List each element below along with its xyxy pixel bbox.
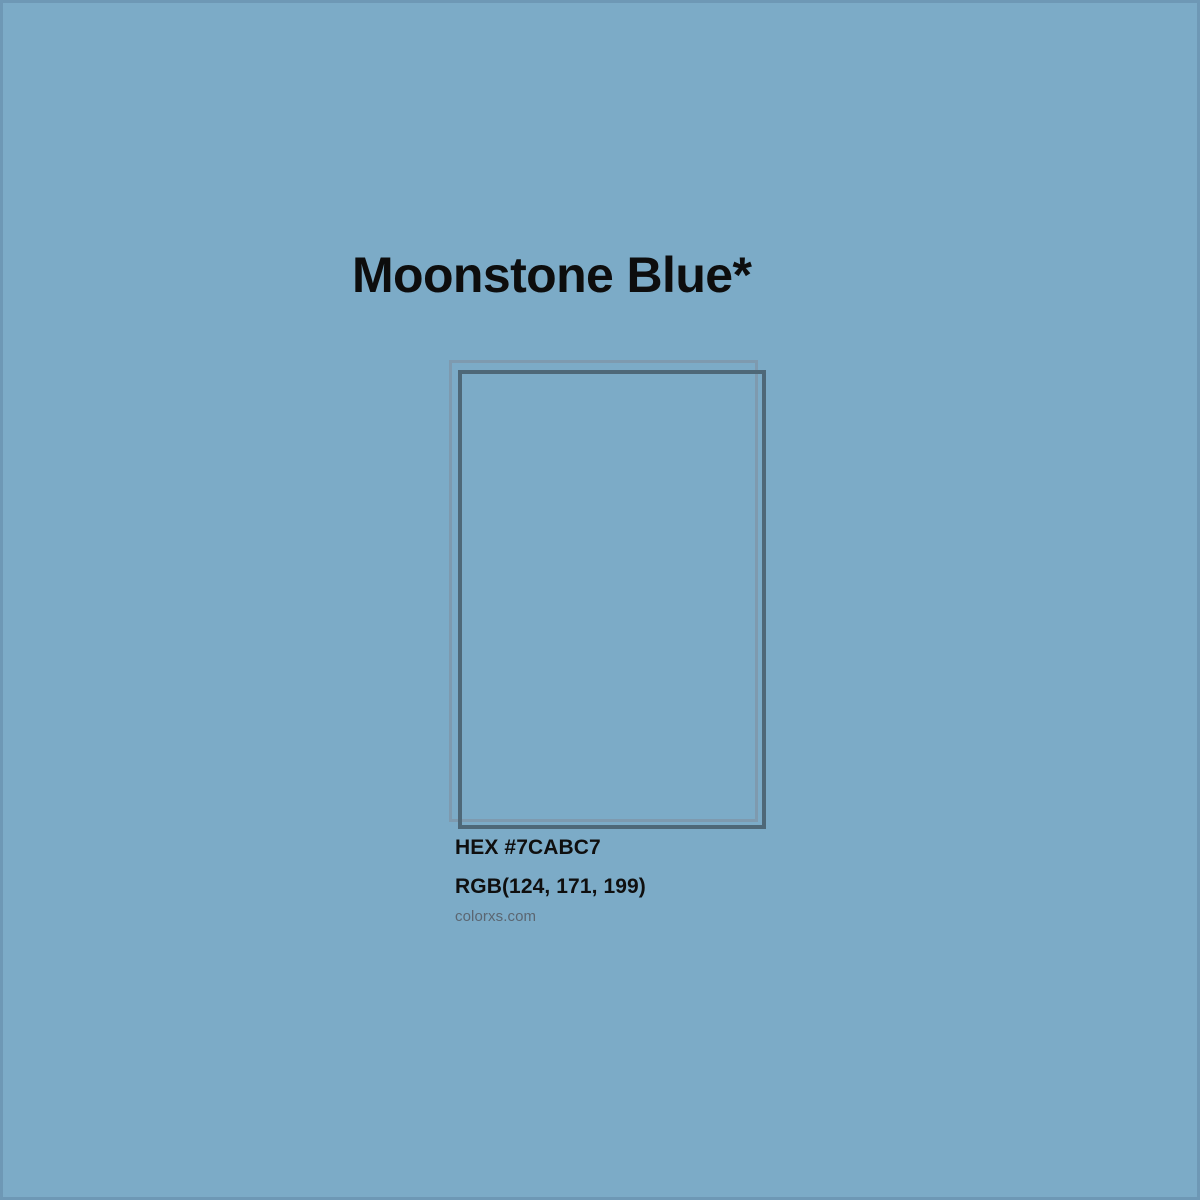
color-swatch xyxy=(3,3,1200,1203)
swatch-frame-front xyxy=(458,370,766,829)
color-swatch-page: Moonstone Blue* HEX #7CABC7 RGB(124, 171… xyxy=(0,0,1200,1200)
page-title: Moonstone Blue* xyxy=(352,246,751,305)
swatch-frame-back xyxy=(449,360,758,822)
site-watermark: colorxs.com xyxy=(455,909,646,924)
hex-value: HEX #7CABC7 xyxy=(455,837,646,858)
color-values: HEX #7CABC7 RGB(124, 171, 199) colorxs.c… xyxy=(455,837,646,924)
rgb-value: RGB(124, 171, 199) xyxy=(455,876,646,897)
